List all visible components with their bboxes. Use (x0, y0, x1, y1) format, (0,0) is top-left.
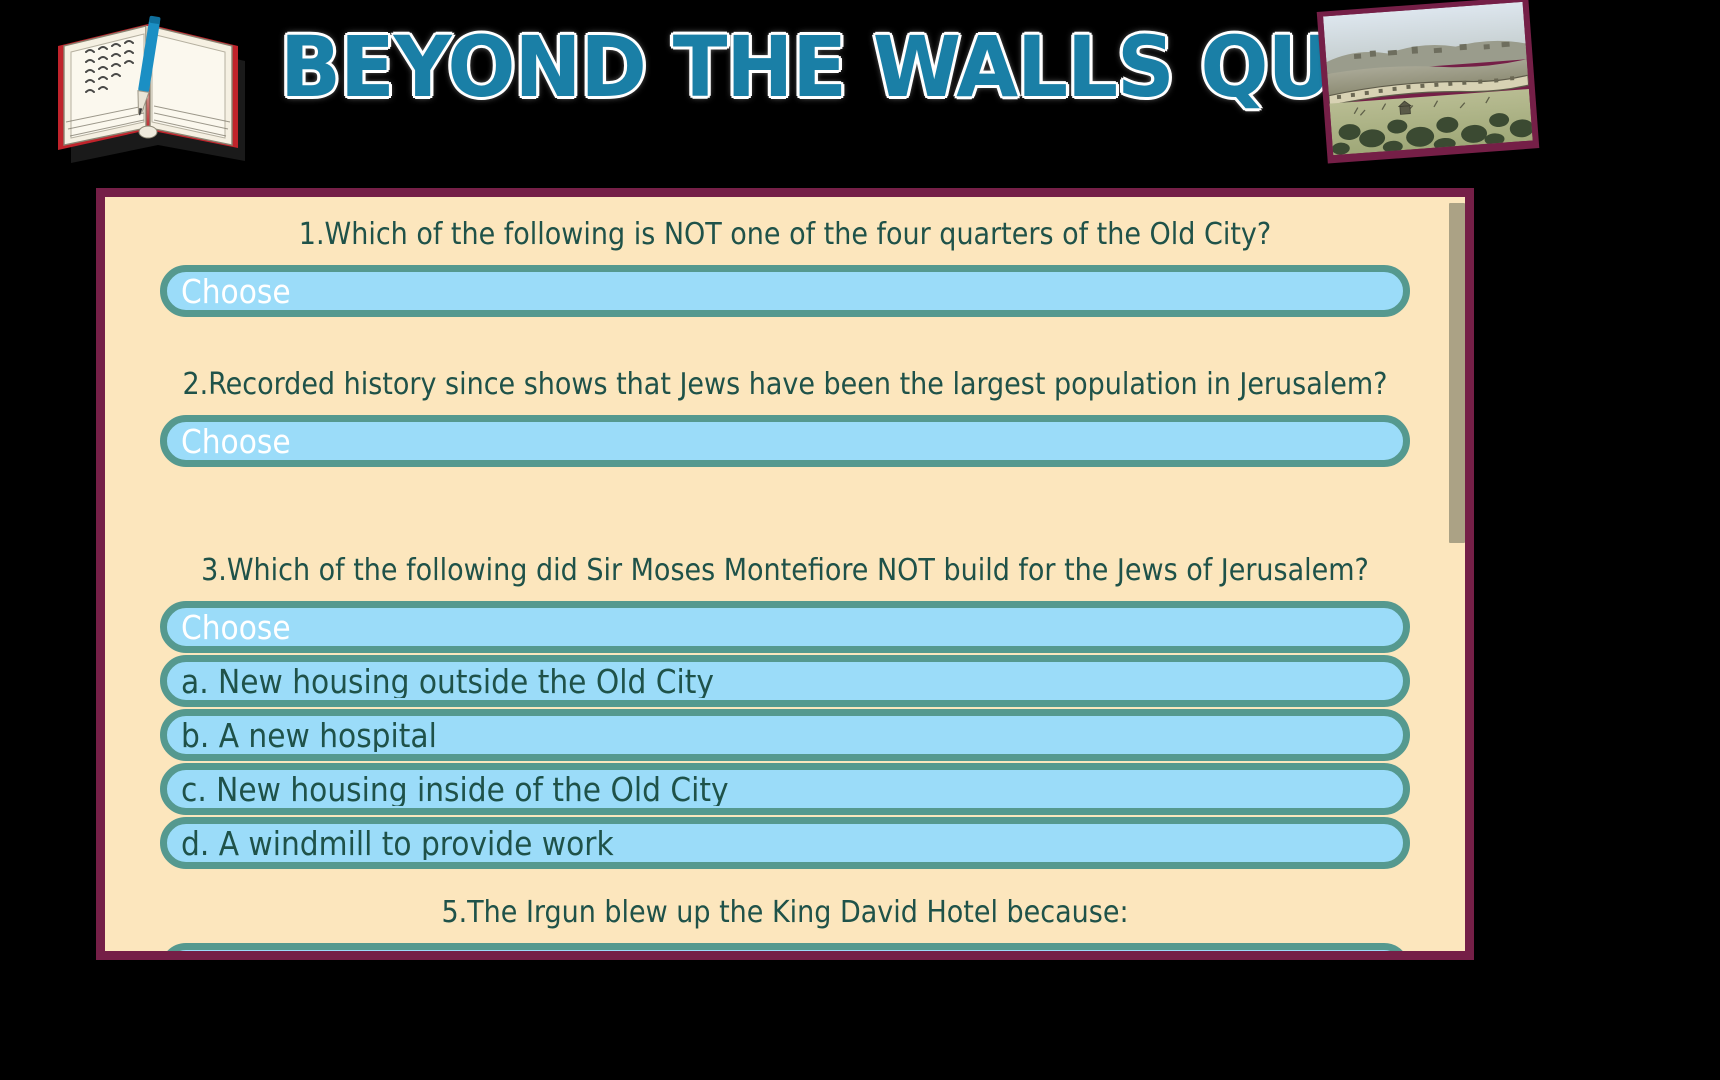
dropdown-select[interactable]: Choose (160, 415, 1410, 467)
dropdown-option[interactable]: d. A windmill to provide work (160, 817, 1410, 869)
page-header: BEYOND THE WALLS QUIZ (0, 0, 1720, 182)
scrollbar-track[interactable] (1449, 197, 1465, 951)
header-thumbnail (1317, 0, 1540, 164)
question-text: 3.Which of the following did Sir Moses M… (105, 555, 1465, 587)
dropdown-option-label: c. New housing inside of the Old City (181, 773, 729, 806)
dropdown-option-label: b. A new hospital (181, 719, 437, 752)
option-list: Choose (105, 943, 1465, 951)
option-list: Choose (105, 415, 1465, 467)
option-list: Choosea. New housing outside the Old Cit… (105, 601, 1465, 869)
question-text: 2.Recorded history since shows that Jews… (105, 369, 1465, 401)
page-title: BEYOND THE WALLS QUIZ (280, 14, 1361, 124)
question-text: 5.The Irgun blew up the King David Hotel… (105, 897, 1465, 929)
dropdown-option[interactable]: b. A new hospital (160, 709, 1410, 761)
quiz-scroll-area[interactable]: 1.Which of the following is NOT one of t… (105, 197, 1465, 951)
scrollbar-thumb[interactable] (1449, 203, 1465, 543)
question-block: 2.Recorded history since shows that Jews… (105, 369, 1465, 467)
question-block: 5.The Irgun blew up the King David Hotel… (105, 897, 1465, 951)
question-block: 1.Which of the following is NOT one of t… (105, 219, 1465, 317)
dropdown-option[interactable]: a. New housing outside the Old City (160, 655, 1410, 707)
dropdown-selected-label: Choose (181, 611, 291, 644)
engraving-illustration (1323, 2, 1533, 155)
dropdown-select[interactable]: Choose (160, 943, 1410, 951)
dropdown-option-label: d. A windmill to provide work (181, 827, 614, 860)
question-text: 1.Which of the following is NOT one of t… (105, 219, 1465, 251)
dropdown-select[interactable]: Choose (160, 265, 1410, 317)
dropdown-option[interactable]: c. New housing inside of the Old City (160, 763, 1410, 815)
dropdown-selected-label: Choose (181, 275, 291, 308)
question-block: 3.Which of the following did Sir Moses M… (105, 555, 1465, 869)
quiz-panel: 1.Which of the following is NOT one of t… (96, 188, 1474, 960)
dropdown-selected-label: Choose (181, 425, 291, 458)
dropdown-option-label: a. New housing outside the Old City (181, 665, 714, 698)
option-list: Choose (105, 265, 1465, 317)
dropdown-select[interactable]: Choose (160, 601, 1410, 653)
open-book-icon (24, 2, 274, 174)
